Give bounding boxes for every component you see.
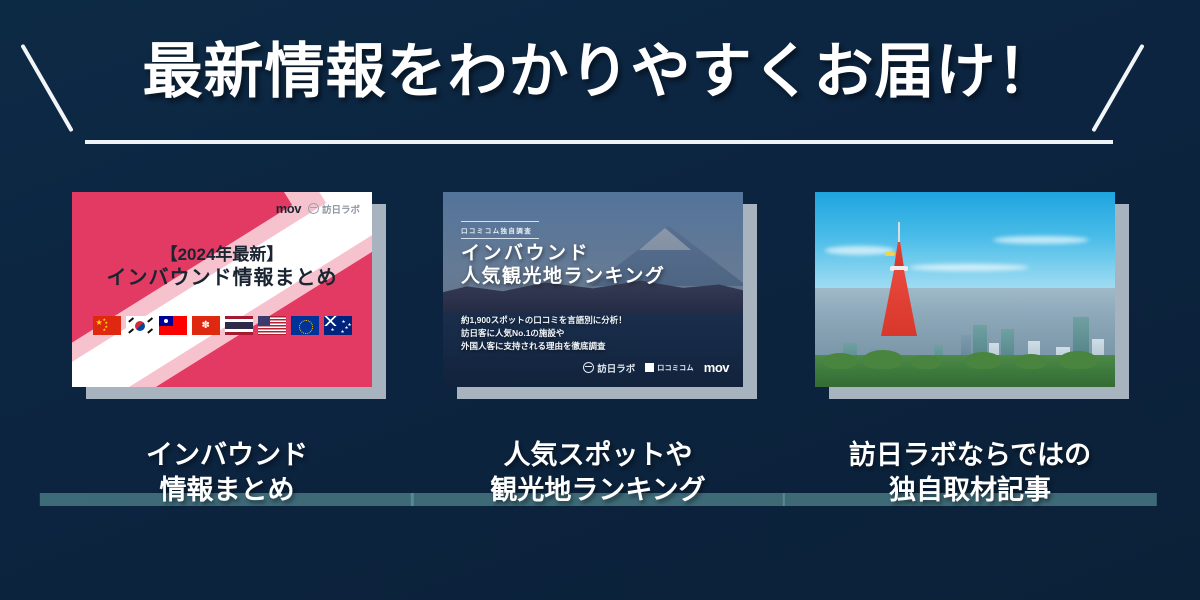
card1-title-line1: 【2024年最新】 [72, 244, 372, 266]
caption3-line2: 独自取材記事 [790, 473, 1150, 508]
card-thumbnail-inbound-summary[interactable]: mov 訪日ラボ 【2024年最新】 インバウンド情報まとめ ★ ★ ★ [72, 192, 372, 387]
caption2-line1: 人気スポットや [418, 438, 778, 473]
flag-hong-kong-icon: ✽ [192, 316, 220, 335]
card-row: mov 訪日ラボ 【2024年最新】 インバウンド情報まとめ ★ ★ ★ [0, 192, 1200, 407]
flag-taiwan-icon [159, 316, 187, 335]
card-inbound-summary[interactable]: mov 訪日ラボ 【2024年最新】 インバウンド情報まとめ ★ ★ ★ [72, 192, 382, 394]
card2-subtitle-line3: 外国人客に支持される理由を徹底調査 [461, 340, 627, 353]
card2-eyebrow: 口コミコム独自調査 [461, 221, 539, 239]
honichi-lab-mark-icon [308, 203, 319, 214]
caption-original-coverage: 訪日ラボならではの 独自取材記事 [790, 438, 1150, 507]
flag-strip: ★ ★ ★ ★ ★ [72, 316, 372, 335]
honichi-lab-logo: 訪日ラボ [583, 361, 635, 375]
mov-logo: mov [276, 201, 301, 216]
tokyo-tower-mast [898, 222, 900, 244]
caption-popular-spots: 人気スポットや 観光地ランキング [418, 438, 778, 507]
card1-title-line2: インバウンド情報まとめ [72, 266, 372, 292]
caption2-line2: 観光地ランキング [418, 473, 778, 508]
promo-banner: 最新情報をわかりやすくお届け！ mov 訪日ラボ [0, 0, 1200, 600]
caption1-line1: インバウンド [47, 438, 407, 473]
caption-row: インバウンド 情報まとめ 人気スポットや 観光地ランキング 訪日ラボならではの … [0, 438, 1200, 543]
honichi-lab-mark-icon [583, 362, 594, 373]
honichi-lab-logo: 訪日ラボ [308, 202, 360, 216]
honichi-lab-logo-text: 訪日ラボ [597, 361, 635, 375]
headline-underline [85, 140, 1113, 144]
kuchikomi-com-logo-text: 口コミコム [657, 363, 694, 373]
card-popular-spot-ranking[interactable]: 口コミコム独自調査 インバウンド 人気観光地ランキング 約1,900スポットの口… [443, 192, 753, 394]
card2-subtitle-line2: 訪日客に人気No.1の施設や [461, 327, 627, 340]
card2-title-line1: インバウンド [461, 242, 665, 265]
card2-subtitle: 約1,900スポットの口コミを言語別に分析！ 訪日客に人気No.1の施設や 外国… [461, 314, 627, 354]
banner-header: 最新情報をわかりやすくお届け！ [0, 0, 1200, 165]
card-original-coverage[interactable] [815, 192, 1125, 394]
flag-thailand-icon [225, 316, 253, 335]
caption-inbound-summary: インバウンド 情報まとめ [47, 438, 407, 507]
card2-title: インバウンド 人気観光地ランキング [461, 242, 665, 288]
page-title: 最新情報をわかりやすくお届け！ [0, 42, 1200, 102]
mov-logo: mov [704, 360, 729, 375]
flag-china-icon: ★ ★ ★ ★ ★ [93, 316, 121, 335]
tokyo-tower-ring [885, 252, 895, 256]
honichi-lab-logo-text: 訪日ラボ [322, 202, 360, 216]
card1-title: 【2024年最新】 インバウンド情報まとめ [72, 244, 372, 291]
cloud [993, 236, 1089, 244]
flag-european-union-icon [291, 316, 319, 335]
cloud [909, 264, 1029, 271]
card1-logo-group: mov 訪日ラボ [276, 201, 360, 216]
flag-united-states-icon [258, 316, 286, 335]
card-photo-tokyo-tower[interactable] [815, 192, 1115, 387]
kuchikomi-com-mark-icon [645, 363, 654, 372]
kuchikomi-com-logo: 口コミコム [645, 363, 694, 373]
city-skyline [815, 288, 1115, 387]
caption1-line2: 情報まとめ [47, 473, 407, 508]
card-thumbnail-popular-spot-ranking[interactable]: 口コミコム独自調査 インバウンド 人気観光地ランキング 約1,900スポットの口… [443, 192, 743, 387]
caption3-line1: 訪日ラボならではの [790, 438, 1150, 473]
card2-subtitle-line1: 約1,900スポットの口コミを言語別に分析！ [461, 314, 627, 327]
card2-title-line2: 人気観光地ランキング [461, 265, 665, 288]
card2-logo-group: 訪日ラボ 口コミコム mov [583, 360, 729, 375]
flag-australia-icon: ★ ★ ★ ★ ★ [324, 316, 352, 335]
flag-south-korea-icon [126, 316, 154, 335]
